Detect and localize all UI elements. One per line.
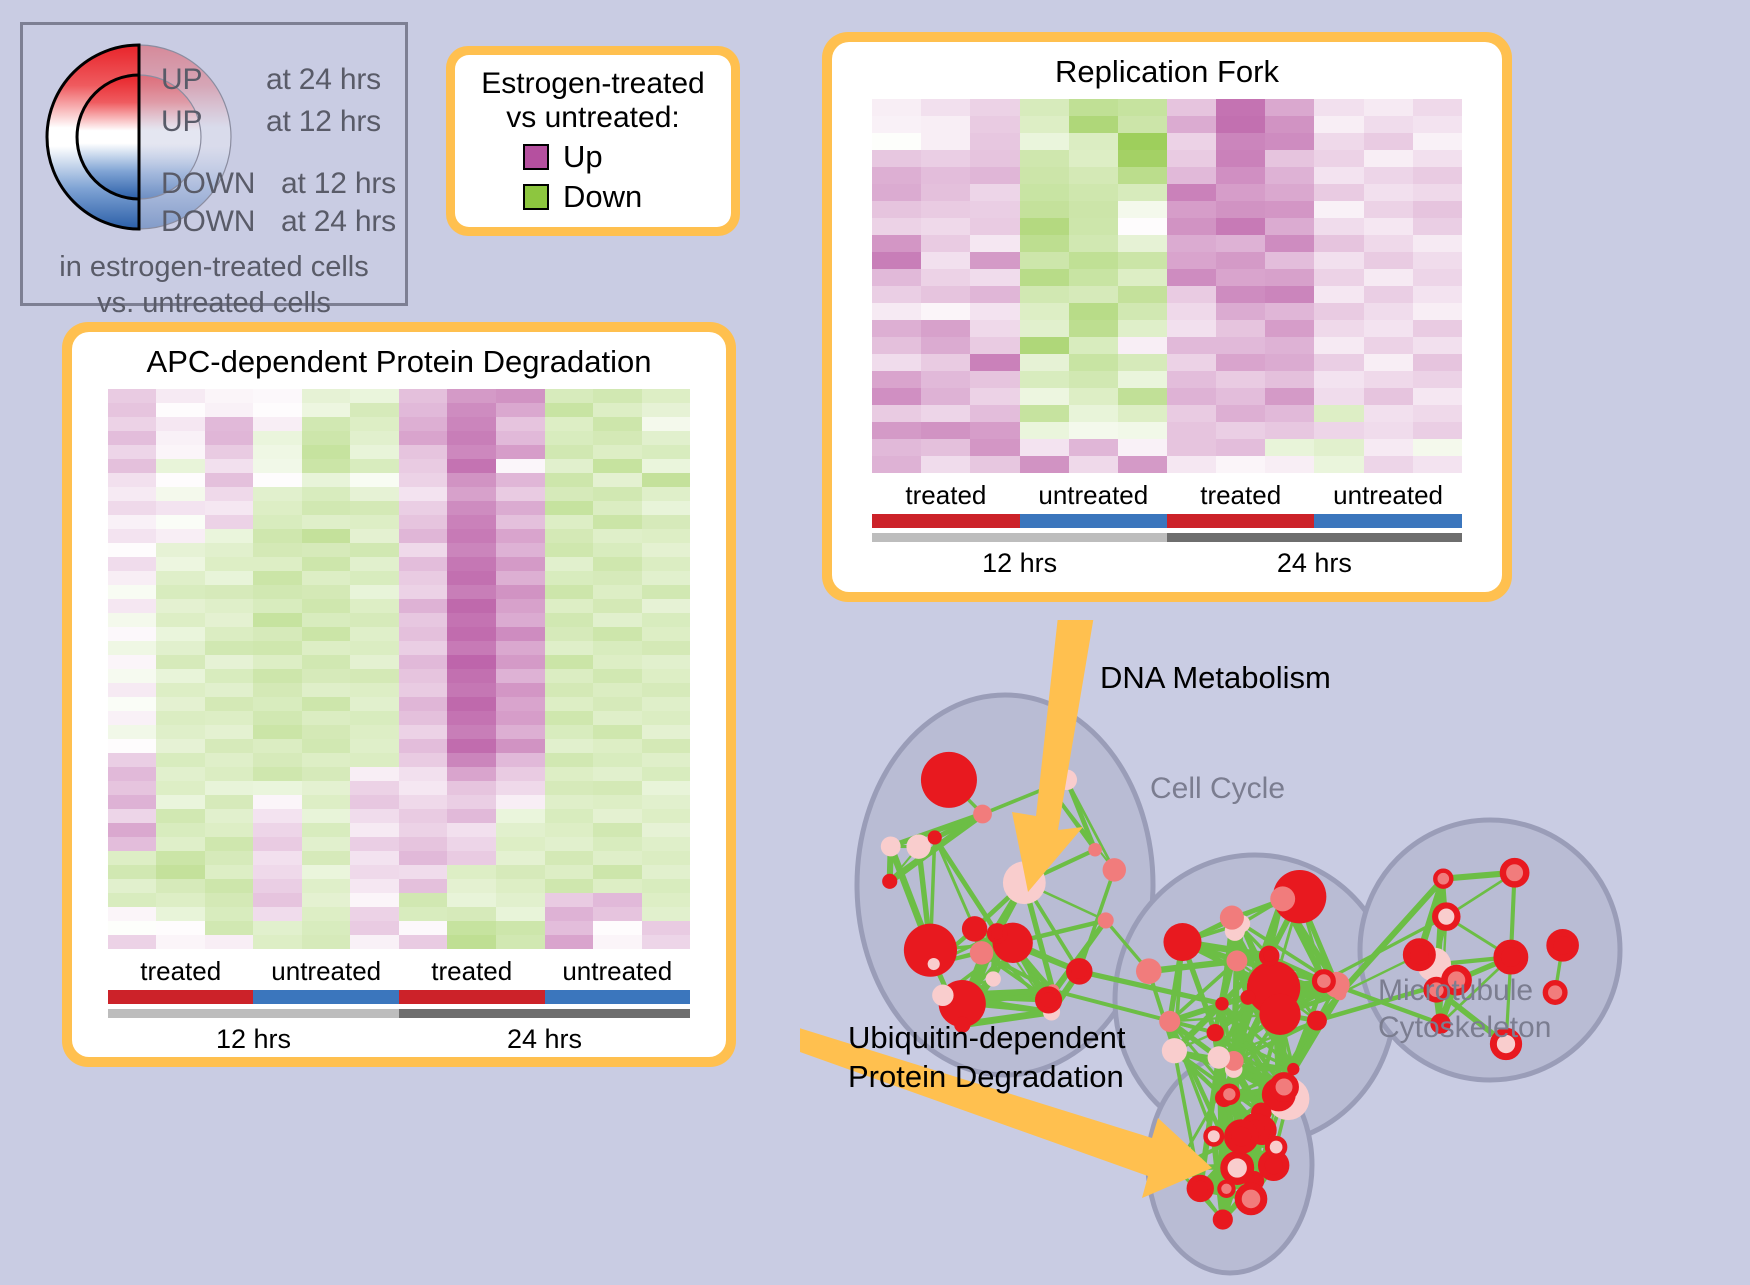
heatmap-cell bbox=[108, 501, 157, 515]
heatmap-cell bbox=[1216, 167, 1265, 184]
network-node[interactable] bbox=[882, 874, 897, 889]
heatmap-cell bbox=[350, 683, 399, 697]
heatmap-cell bbox=[593, 711, 642, 725]
heatmap-cell bbox=[496, 837, 545, 851]
network-node[interactable] bbox=[1307, 1011, 1327, 1031]
heatmap-cell bbox=[970, 116, 1019, 133]
heatmap-cell bbox=[545, 711, 594, 725]
cluster-label-dna-metabolism: DNA Metabolism bbox=[1100, 660, 1331, 696]
heatmap-cell bbox=[1069, 218, 1118, 235]
heatmap-cell bbox=[205, 641, 254, 655]
heatmap-cell bbox=[156, 557, 205, 571]
heatmap-cell bbox=[545, 459, 594, 473]
heatmap-cell bbox=[1118, 354, 1167, 371]
key-time: at 12 hrs bbox=[266, 105, 381, 139]
heatmap-cell bbox=[1265, 320, 1314, 337]
network-node[interactable] bbox=[1038, 989, 1059, 1010]
heatmap-cell bbox=[545, 529, 594, 543]
network-node[interactable] bbox=[1215, 997, 1228, 1010]
heatmap-cell bbox=[872, 201, 921, 218]
heatmap-cell bbox=[399, 571, 448, 585]
swatch-down-icon bbox=[523, 184, 549, 210]
heatmap-cell bbox=[545, 851, 594, 865]
heatmap-cell bbox=[642, 571, 691, 585]
heatmap-cell bbox=[1020, 184, 1069, 201]
network-node[interactable] bbox=[1103, 858, 1126, 881]
heatmap-cell bbox=[399, 403, 448, 417]
heatmap-cell bbox=[593, 865, 642, 879]
heatmap-cell bbox=[1413, 354, 1462, 371]
heatmap-cell bbox=[1364, 269, 1413, 286]
heatmap-cell bbox=[496, 655, 545, 669]
heatmap-cell bbox=[302, 725, 351, 739]
heatmap-cell bbox=[1413, 133, 1462, 150]
axis-time-color-bar bbox=[872, 533, 1462, 542]
heatmap-cell bbox=[108, 417, 157, 431]
heatmap-cell bbox=[253, 459, 302, 473]
heatmap-cell bbox=[1020, 235, 1069, 252]
heatmap-cell bbox=[1069, 303, 1118, 320]
network-node[interactable] bbox=[932, 985, 953, 1006]
network-node[interactable] bbox=[1207, 1024, 1224, 1041]
heatmap-cell bbox=[205, 683, 254, 697]
heatmap-cell bbox=[350, 403, 399, 417]
heatmap-cell bbox=[302, 459, 351, 473]
heatmap-cell bbox=[302, 487, 351, 501]
heatmap-cell bbox=[1069, 235, 1118, 252]
heatmap-cell bbox=[350, 753, 399, 767]
heatmap-cell bbox=[872, 133, 921, 150]
heatmap-cell bbox=[108, 403, 157, 417]
heatmap-cell bbox=[970, 354, 1019, 371]
heatmap-cell bbox=[205, 557, 254, 571]
axis-time-label: 12 hrs bbox=[872, 542, 1167, 579]
heatmap-cell bbox=[1314, 150, 1363, 167]
heatmap-cell bbox=[205, 851, 254, 865]
network-node[interactable] bbox=[1259, 994, 1300, 1035]
heatmap-cell bbox=[302, 935, 351, 949]
heatmap-cell bbox=[447, 599, 496, 613]
heatmap-cell bbox=[447, 865, 496, 879]
heatmap-cell bbox=[1364, 286, 1413, 303]
network-node[interactable] bbox=[928, 830, 942, 844]
network-node[interactable] bbox=[906, 834, 930, 858]
heatmap-cell bbox=[350, 445, 399, 459]
heatmap-cell bbox=[1413, 439, 1462, 456]
heatmap-cell bbox=[1364, 371, 1413, 388]
network-node[interactable] bbox=[928, 958, 940, 970]
heatmap-cell bbox=[1069, 116, 1118, 133]
heatmap-cell bbox=[593, 683, 642, 697]
heatmap-cell bbox=[253, 879, 302, 893]
network-node[interactable] bbox=[1159, 1011, 1180, 1032]
heatmap-cell bbox=[593, 781, 642, 795]
heatmap-cell bbox=[545, 739, 594, 753]
heatmap-axis-replication-fork: treateduntreatedtreateduntreated 12 hrs2… bbox=[872, 473, 1462, 579]
heatmap-cell bbox=[496, 557, 545, 571]
heatmap-cell bbox=[642, 655, 691, 669]
heatmap-cell bbox=[593, 837, 642, 851]
network-node[interactable] bbox=[1270, 886, 1295, 911]
network-node[interactable] bbox=[1215, 1212, 1231, 1228]
heatmap-cell bbox=[921, 303, 970, 320]
network-node[interactable] bbox=[1497, 943, 1524, 970]
axis-group-swatch bbox=[1020, 514, 1167, 528]
heatmap-cell bbox=[108, 683, 157, 697]
network-node[interactable] bbox=[1163, 923, 1201, 961]
heatmap-cell bbox=[253, 403, 302, 417]
heatmap-cell bbox=[302, 473, 351, 487]
network-node[interactable] bbox=[1287, 1063, 1299, 1075]
heatmap-cell bbox=[642, 529, 691, 543]
heatmap-cell bbox=[1314, 133, 1363, 150]
heatmap-cell bbox=[496, 725, 545, 739]
heatmap-cell bbox=[1118, 388, 1167, 405]
heatmap-cell bbox=[921, 167, 970, 184]
network-node[interactable] bbox=[1261, 948, 1277, 964]
heatmap-cell bbox=[350, 879, 399, 893]
heatmap-cell bbox=[253, 501, 302, 515]
heatmap-cell bbox=[205, 445, 254, 459]
network-node[interactable] bbox=[921, 752, 977, 808]
heatmap-cell bbox=[1364, 354, 1413, 371]
heatmap-cell bbox=[496, 473, 545, 487]
heatmap-cell bbox=[253, 445, 302, 459]
heatmap-cell bbox=[108, 865, 157, 879]
heatmap-cell bbox=[970, 405, 1019, 422]
heatmap-cell bbox=[1216, 388, 1265, 405]
heatmap-cell bbox=[350, 711, 399, 725]
heatmap-cell bbox=[642, 711, 691, 725]
heatmap-cell bbox=[545, 557, 594, 571]
heatmap-cell bbox=[253, 697, 302, 711]
heatmap-cell bbox=[302, 389, 351, 403]
heatmap-cell bbox=[1118, 235, 1167, 252]
axis-time-swatch bbox=[108, 1009, 399, 1018]
heatmap-cell bbox=[593, 571, 642, 585]
heatmap-cell bbox=[545, 865, 594, 879]
network-node[interactable] bbox=[970, 941, 994, 965]
heatmap-cell bbox=[447, 823, 496, 837]
network-node[interactable] bbox=[1238, 1186, 1264, 1212]
heatmap-cell bbox=[350, 669, 399, 683]
heatmap-cell bbox=[921, 439, 970, 456]
heatmap-cell bbox=[1118, 303, 1167, 320]
heatmap-cell bbox=[108, 893, 157, 907]
heatmap-cell bbox=[1069, 354, 1118, 371]
heatmap-cell bbox=[108, 557, 157, 571]
heatmap-cell bbox=[1265, 456, 1314, 473]
network-node[interactable] bbox=[1406, 942, 1432, 968]
network-node[interactable] bbox=[1098, 912, 1114, 928]
heatmap-cell bbox=[545, 403, 594, 417]
heatmap-cell bbox=[108, 823, 157, 837]
legend-title-line-1: Estrogen-treated bbox=[481, 67, 704, 101]
heatmap-cell bbox=[253, 431, 302, 445]
heatmap-cell bbox=[253, 627, 302, 641]
heatmap-cell bbox=[1265, 99, 1314, 116]
network-node[interactable] bbox=[1221, 1086, 1238, 1103]
heatmap-cell bbox=[642, 473, 691, 487]
heatmap-cell bbox=[642, 613, 691, 627]
heatmap-cell bbox=[545, 599, 594, 613]
heatmap-cell bbox=[302, 767, 351, 781]
heatmap-cell bbox=[447, 655, 496, 669]
heatmap-cell bbox=[1069, 320, 1118, 337]
heatmap-cell bbox=[921, 99, 970, 116]
heatmap-cell bbox=[1118, 286, 1167, 303]
network-node[interactable] bbox=[1224, 1155, 1251, 1182]
key-label: UP bbox=[161, 105, 266, 139]
heatmap-cell bbox=[496, 781, 545, 795]
heatmap-cell bbox=[253, 739, 302, 753]
heatmap-cell bbox=[156, 781, 205, 795]
heatmap-cell bbox=[642, 823, 691, 837]
heatmap-cell bbox=[399, 669, 448, 683]
heatmap-cell bbox=[593, 403, 642, 417]
network-node[interactable] bbox=[1136, 958, 1162, 984]
heatmap-cell bbox=[302, 543, 351, 557]
heatmap-cell bbox=[545, 417, 594, 431]
heatmap-cell bbox=[545, 585, 594, 599]
heatmap-cell bbox=[1314, 320, 1363, 337]
heatmap-cell bbox=[447, 893, 496, 907]
network-node[interactable] bbox=[986, 971, 1001, 986]
network-node[interactable] bbox=[1272, 1075, 1295, 1098]
heatmap-cell bbox=[593, 823, 642, 837]
heatmap-cell bbox=[108, 613, 157, 627]
heatmap-cell bbox=[593, 893, 642, 907]
heatmap-cell bbox=[253, 641, 302, 655]
network-node[interactable] bbox=[1226, 950, 1247, 971]
network-node[interactable] bbox=[962, 916, 987, 941]
heatmap-cell bbox=[1413, 303, 1462, 320]
heatmap-cell bbox=[108, 725, 157, 739]
axis-time-color-bar bbox=[108, 1009, 690, 1018]
heatmap-cell bbox=[1265, 150, 1314, 167]
heatmap-cell bbox=[1069, 405, 1118, 422]
heatmap-cell bbox=[545, 837, 594, 851]
heatmap-cell bbox=[872, 337, 921, 354]
heatmap-cell bbox=[1069, 252, 1118, 269]
network-node[interactable] bbox=[1240, 990, 1255, 1005]
heatmap-cell bbox=[399, 501, 448, 515]
heatmap-cell bbox=[350, 627, 399, 641]
heatmap-cell bbox=[156, 515, 205, 529]
heatmap-cell bbox=[1265, 388, 1314, 405]
heatmap-cell bbox=[545, 823, 594, 837]
heatmap-cell bbox=[205, 459, 254, 473]
heatmap-cell bbox=[399, 655, 448, 669]
heatmap-cell bbox=[399, 515, 448, 529]
heatmap-cell bbox=[921, 133, 970, 150]
network-node[interactable] bbox=[1228, 1123, 1255, 1150]
heatmap-cell bbox=[253, 557, 302, 571]
heatmap-cell bbox=[496, 935, 545, 949]
heatmap-cell bbox=[1020, 388, 1069, 405]
panel-title: Replication Fork bbox=[1055, 54, 1279, 90]
heatmap-cell bbox=[108, 515, 157, 529]
heatmap-cell bbox=[1069, 184, 1118, 201]
heatmap-cell bbox=[108, 795, 157, 809]
heatmap-cell bbox=[496, 865, 545, 879]
network-node[interactable] bbox=[1220, 906, 1244, 930]
heatmap-cell bbox=[1118, 133, 1167, 150]
heatmap-cell bbox=[496, 571, 545, 585]
heatmap-cell bbox=[1314, 252, 1363, 269]
heatmap-cell bbox=[302, 627, 351, 641]
heatmap-cell bbox=[156, 823, 205, 837]
network-node[interactable] bbox=[1314, 972, 1333, 991]
heatmap-cell bbox=[447, 431, 496, 445]
heatmap-cell bbox=[593, 795, 642, 809]
heatmap-cell bbox=[1167, 235, 1216, 252]
heatmap-cell bbox=[1020, 218, 1069, 235]
heatmap-cell bbox=[350, 781, 399, 795]
heatmap-cell bbox=[302, 501, 351, 515]
heatmap-cell bbox=[921, 252, 970, 269]
heatmap-cell bbox=[302, 865, 351, 879]
heatmap-cell bbox=[496, 879, 545, 893]
heatmap-cell bbox=[545, 935, 594, 949]
network-node[interactable] bbox=[1162, 1038, 1187, 1063]
heatmap-cell bbox=[496, 585, 545, 599]
heatmap-cell bbox=[302, 613, 351, 627]
heatmap-cell bbox=[205, 403, 254, 417]
heatmap-cell bbox=[593, 907, 642, 921]
heatmap-cell bbox=[399, 879, 448, 893]
heatmap-cell bbox=[1069, 99, 1118, 116]
heatmap-cell bbox=[253, 781, 302, 795]
heatmap-cell bbox=[1314, 439, 1363, 456]
network-node[interactable] bbox=[1069, 961, 1090, 982]
heatmap-cell bbox=[1364, 184, 1413, 201]
heatmap-cell bbox=[921, 235, 970, 252]
heatmap-cell bbox=[1118, 252, 1167, 269]
heatmap-cell bbox=[253, 417, 302, 431]
heatmap-cell bbox=[921, 388, 970, 405]
heatmap-cell bbox=[642, 753, 691, 767]
heatmap-cell bbox=[447, 641, 496, 655]
heatmap-cell bbox=[447, 907, 496, 921]
heatmap-cell bbox=[1364, 218, 1413, 235]
network-node[interactable] bbox=[973, 805, 992, 824]
heatmap-cell bbox=[1265, 252, 1314, 269]
heatmap-cell bbox=[1167, 320, 1216, 337]
heatmap-cell bbox=[350, 543, 399, 557]
heatmap-cell bbox=[205, 529, 254, 543]
network-node[interactable] bbox=[1503, 861, 1526, 884]
heatmap-cell bbox=[642, 879, 691, 893]
heatmap-cell bbox=[1413, 150, 1462, 167]
heatmap-cell bbox=[156, 459, 205, 473]
heatmap-cell bbox=[1314, 99, 1363, 116]
heatmap-apc-degradation bbox=[108, 389, 690, 949]
axis-time-label: 24 hrs bbox=[399, 1018, 690, 1055]
heatmap-cell bbox=[399, 781, 448, 795]
key-time: at 24 hrs bbox=[266, 63, 381, 97]
axis-time-label: 24 hrs bbox=[1167, 542, 1462, 579]
heatmap-cell bbox=[593, 613, 642, 627]
heatmap-cell bbox=[642, 501, 691, 515]
network-node[interactable] bbox=[1435, 871, 1451, 887]
heatmap-cell bbox=[1069, 133, 1118, 150]
heatmap-cell bbox=[970, 235, 1019, 252]
heatmap-cell bbox=[399, 389, 448, 403]
network-node[interactable] bbox=[1333, 987, 1346, 1000]
heatmap-cell bbox=[642, 641, 691, 655]
heatmap-cell bbox=[156, 529, 205, 543]
caption-line-2: vs. untreated cells bbox=[23, 285, 405, 321]
network-node[interactable] bbox=[1208, 1046, 1230, 1068]
network-node[interactable] bbox=[1206, 1128, 1222, 1144]
heatmap-cell bbox=[350, 431, 399, 445]
heatmap-cell bbox=[496, 921, 545, 935]
heatmap-cell bbox=[350, 557, 399, 571]
heatmap-cell bbox=[1216, 184, 1265, 201]
heatmap-cell bbox=[302, 697, 351, 711]
heatmap-cell bbox=[399, 613, 448, 627]
heatmap-cell bbox=[108, 739, 157, 753]
heatmap-cell bbox=[253, 473, 302, 487]
heatmap-cell bbox=[205, 543, 254, 557]
heatmap-cell bbox=[253, 585, 302, 599]
network-node[interactable] bbox=[1190, 1178, 1211, 1199]
axis-group-color-bar bbox=[108, 990, 690, 1004]
heatmap-cell bbox=[253, 613, 302, 627]
heatmap-cell bbox=[593, 697, 642, 711]
heatmap-cell bbox=[496, 683, 545, 697]
heatmap-cell bbox=[1118, 320, 1167, 337]
heatmap-cell bbox=[205, 865, 254, 879]
axis-time-label: 12 hrs bbox=[108, 1018, 399, 1055]
heatmap-cell bbox=[545, 809, 594, 823]
axis-time-labels: 12 hrs24 hrs bbox=[108, 1018, 690, 1055]
network-node[interactable] bbox=[1267, 1138, 1285, 1156]
heatmap-cell bbox=[545, 795, 594, 809]
network-node[interactable] bbox=[1550, 933, 1576, 959]
network-node[interactable] bbox=[1088, 843, 1102, 857]
heatmap-cell bbox=[156, 935, 205, 949]
axis-time-labels: 12 hrs24 hrs bbox=[872, 542, 1462, 579]
heatmap-cell bbox=[593, 445, 642, 459]
heatmap-cell bbox=[593, 389, 642, 403]
heatmap-cell bbox=[302, 417, 351, 431]
heatmap-cell bbox=[253, 907, 302, 921]
heatmap-cell bbox=[921, 371, 970, 388]
label-line-2: Cytoskeleton bbox=[1378, 1009, 1551, 1046]
heatmap-cell bbox=[1167, 337, 1216, 354]
heatmap-cell bbox=[1167, 184, 1216, 201]
heatmap-cell bbox=[350, 417, 399, 431]
heatmap-cell bbox=[545, 613, 594, 627]
network-node[interactable] bbox=[989, 925, 1005, 941]
heatmap-cell bbox=[156, 571, 205, 585]
network-node[interactable] bbox=[1435, 905, 1457, 927]
heatmap-cell bbox=[399, 641, 448, 655]
heatmap-cell bbox=[593, 599, 642, 613]
heatmap-cell bbox=[970, 303, 1019, 320]
network-node[interactable] bbox=[881, 836, 901, 856]
heatmap-cell bbox=[447, 389, 496, 403]
key-time: at 24 hrs bbox=[281, 205, 396, 239]
heatmap-cell bbox=[108, 543, 157, 557]
heatmap-cell bbox=[447, 585, 496, 599]
heatmap-cell bbox=[205, 599, 254, 613]
axis-group-label: treated bbox=[1167, 473, 1314, 514]
heatmap-cell bbox=[350, 907, 399, 921]
heatmap-cell bbox=[642, 697, 691, 711]
